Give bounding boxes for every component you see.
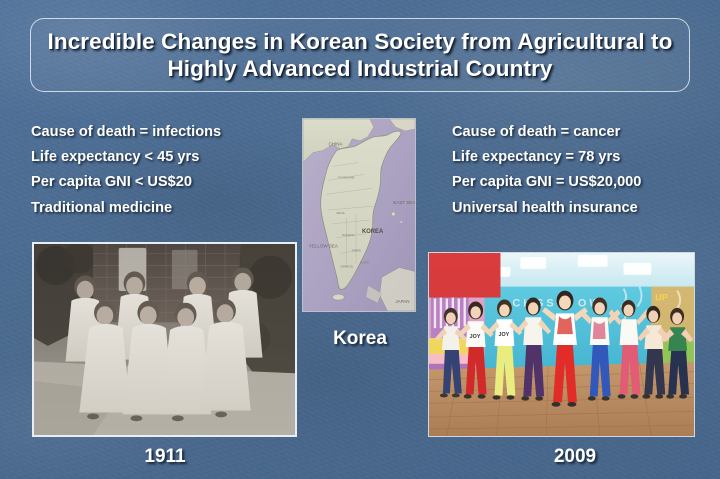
svg-text:PYONGYANG: PYONGYANG bbox=[338, 175, 354, 179]
svg-text:SEOUL: SEOUL bbox=[336, 211, 345, 215]
map-label-east-sea: EAST SEA bbox=[393, 200, 415, 205]
korea-map-svg: CHINA KOREA EAST SEA YELLOW SEA JAPAN PY… bbox=[303, 119, 415, 311]
photo-2009: CH SS OW UP bbox=[428, 252, 695, 437]
photo-2009-caption: 2009 bbox=[515, 446, 635, 468]
fact-line: Cause of death = infections bbox=[31, 120, 296, 145]
photo-1911-caption: 1911 bbox=[105, 446, 225, 468]
fact-line: Traditional medicine bbox=[31, 196, 296, 221]
fact-line: Per capita GNI < US$20 bbox=[31, 170, 296, 195]
svg-text:BUSAN: BUSAN bbox=[360, 260, 369, 264]
svg-text:DAEGU: DAEGU bbox=[352, 249, 361, 253]
map-caption: Korea bbox=[300, 328, 420, 350]
fact-line: Life expectancy < 45 yrs bbox=[31, 145, 296, 170]
svg-text:GWANGJU: GWANGJU bbox=[340, 264, 353, 268]
fact-line: Cause of death = cancer bbox=[452, 120, 712, 145]
map-label-japan: JAPAN bbox=[395, 299, 409, 304]
title-box: Incredible Changes in Korean Society fro… bbox=[30, 18, 690, 92]
page-title: Incredible Changes in Korean Society fro… bbox=[31, 28, 689, 83]
fact-line: Universal health insurance bbox=[452, 196, 712, 221]
photo-1911-svg bbox=[34, 244, 295, 435]
fact-line: Life expectancy = 78 yrs bbox=[452, 145, 712, 170]
slide-canvas: Incredible Changes in Korean Society fro… bbox=[0, 0, 720, 479]
svg-text:DAEJEON: DAEJEON bbox=[342, 233, 354, 237]
photo-1911 bbox=[32, 242, 297, 437]
photo-2009-svg: CH SS OW UP bbox=[429, 253, 694, 436]
korea-map-image: CHINA KOREA EAST SEA YELLOW SEA JAPAN PY… bbox=[302, 118, 416, 312]
map-label-yellow-sea: YELLOW SEA bbox=[309, 244, 338, 249]
fact-line: Per capita GNI = US$20,000 bbox=[452, 170, 712, 195]
map-label-korea: KOREA bbox=[362, 229, 384, 235]
facts-list-2009: Cause of death = cancer Life expectancy … bbox=[452, 120, 712, 221]
facts-list-1911: Cause of death = infections Life expecta… bbox=[31, 120, 296, 221]
map-label-china: CHINA bbox=[329, 142, 343, 147]
